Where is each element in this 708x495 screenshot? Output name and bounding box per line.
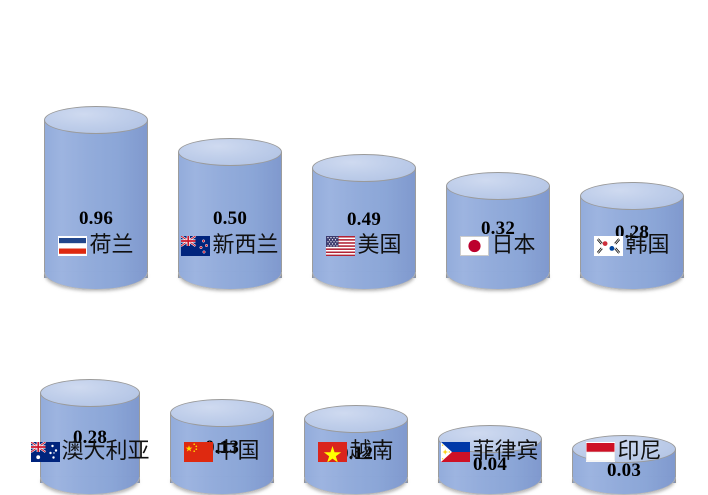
bar-label-netherlands: 荷兰 bbox=[44, 235, 148, 257]
bar-group-netherlands: 0.96 荷兰 bbox=[44, 0, 148, 290]
flag-china-icon bbox=[184, 442, 213, 462]
bar-group-south-korea: 0.28 bbox=[580, 0, 684, 290]
bar-label-text: 荷兰 bbox=[89, 235, 133, 257]
bar-label-vietnam: 越南 bbox=[304, 441, 408, 463]
chart-row-1: 0.96 荷兰 bbox=[0, 0, 708, 290]
cylinder-top-ellipse bbox=[580, 182, 684, 210]
bar-label-text: 菲律宾 bbox=[472, 441, 538, 463]
bar-label-united-states: 美国 bbox=[312, 235, 416, 257]
cylinder-bottom-cap bbox=[304, 477, 408, 495]
cylinder-united-states: 0.49 bbox=[312, 154, 416, 290]
cylinder-bottom-cap bbox=[580, 272, 684, 290]
bar-group-philippines: 0.04 菲律宾 bbox=[438, 296, 542, 495]
cylinder-top-ellipse bbox=[446, 172, 550, 200]
bar-label-text: 日本 bbox=[491, 235, 535, 257]
cylinder-top-ellipse bbox=[312, 154, 416, 182]
bar-label-south-korea: 韩国 bbox=[580, 235, 684, 257]
cylinder-top-ellipse bbox=[170, 399, 274, 427]
bar-label-philippines: 菲律宾 bbox=[438, 441, 542, 463]
bar-label-text: 美国 bbox=[357, 235, 401, 257]
bar-label-indonesia: 印尼 bbox=[572, 441, 676, 463]
flag-netherlands-icon bbox=[58, 236, 87, 256]
bar-label-text: 新西兰 bbox=[212, 235, 278, 257]
flag-japan-icon bbox=[460, 236, 489, 256]
cylinder-bottom-cap bbox=[446, 272, 550, 290]
bar-label-china: 中国 bbox=[170, 441, 274, 463]
flag-australia-icon bbox=[31, 442, 60, 462]
flag-south-korea-icon bbox=[594, 236, 623, 256]
bar-value-new-zealand: 0.50 bbox=[178, 208, 282, 230]
cylinder-bar-chart: 0.96 荷兰 bbox=[0, 0, 708, 495]
flag-indonesia-icon bbox=[586, 442, 615, 462]
flag-vietnam-icon bbox=[318, 442, 347, 462]
cylinder-bottom-cap bbox=[438, 477, 542, 495]
flag-united-states-icon bbox=[326, 236, 355, 256]
bar-label-text: 印尼 bbox=[617, 441, 661, 463]
cylinder-netherlands: 0.96 bbox=[44, 106, 148, 290]
cylinder-top-ellipse bbox=[44, 106, 148, 134]
cylinder-new-zealand: 0.50 bbox=[178, 138, 282, 290]
flag-philippines-icon bbox=[441, 442, 470, 462]
cylinder-australia: 0.28 bbox=[40, 379, 140, 495]
bar-group-new-zealand: 0.50 bbox=[178, 0, 282, 290]
bar-group-united-states: 0.49 bbox=[312, 0, 416, 290]
bar-group-vietnam: 0.12 越南 bbox=[304, 296, 408, 495]
bar-group-indonesia: 0.03 印尼 bbox=[572, 296, 676, 495]
bar-group-australia: 0.28 bbox=[32, 296, 148, 495]
bar-label-new-zealand: 新西兰 bbox=[178, 235, 282, 257]
bar-label-text: 韩国 bbox=[625, 235, 669, 257]
bar-label-text: 越南 bbox=[349, 441, 393, 463]
cylinder-bottom-cap bbox=[44, 272, 148, 290]
chart-row-2: 0.28 bbox=[0, 296, 708, 495]
bar-group-japan: 0.32 日本 bbox=[446, 0, 550, 290]
bar-label-text: 中国 bbox=[215, 441, 259, 463]
cylinder-top-ellipse bbox=[304, 405, 408, 433]
cylinder-japan: 0.32 bbox=[446, 172, 550, 290]
cylinder-bottom-cap bbox=[178, 272, 282, 290]
bar-group-china: 0.13 bbox=[170, 296, 274, 495]
cylinder-bottom-cap bbox=[170, 477, 274, 495]
flag-new-zealand-icon bbox=[181, 236, 210, 256]
bar-value-united-states: 0.49 bbox=[312, 209, 416, 231]
cylinder-top-ellipse bbox=[40, 379, 140, 407]
bar-label-text: 澳大利亚 bbox=[62, 441, 150, 463]
cylinder-top-ellipse bbox=[178, 138, 282, 166]
cylinder-bottom-cap bbox=[312, 272, 416, 290]
bar-label-japan: 日本 bbox=[446, 235, 550, 257]
bar-value-netherlands: 0.96 bbox=[44, 208, 148, 230]
bar-label-australia: 澳大利亚 bbox=[32, 441, 148, 463]
cylinder-bottom-cap bbox=[40, 477, 140, 495]
